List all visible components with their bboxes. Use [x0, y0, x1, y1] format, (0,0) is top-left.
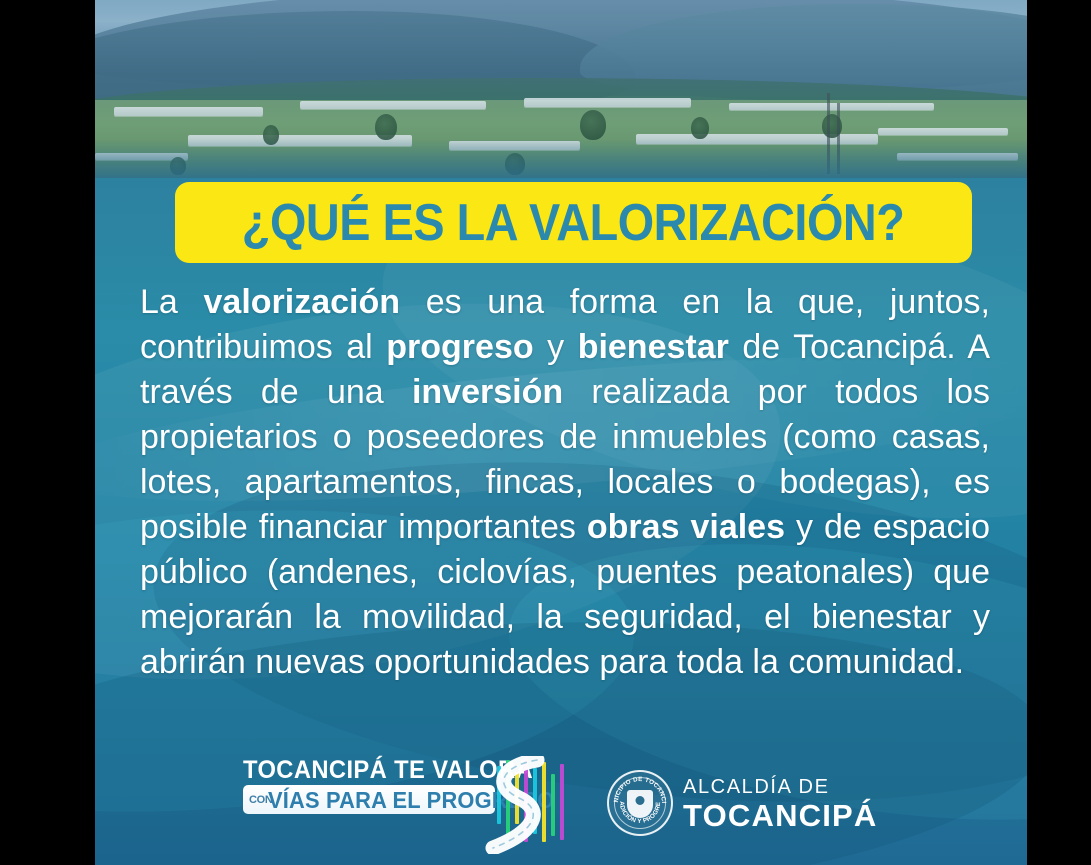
campaign-logo: TOCANCIPÁ TE VALORA CON VÍAS PARA EL PRO…	[243, 752, 543, 852]
color-bar	[560, 764, 564, 840]
government-logo-line1: ALCALDÍA DE	[683, 776, 830, 799]
municipal-crest-icon: MUNICIPIO DE TOCANCIPÁ TRADICIÓN Y PROGR…	[607, 770, 673, 836]
body-paragraph: La valorización es una forma en la que, …	[140, 280, 990, 685]
pillarbox-right	[1027, 0, 1091, 865]
aerial-landscape-photo	[95, 0, 1027, 178]
body-segment-bold: progreso	[386, 328, 533, 366]
pillarbox-left	[0, 0, 95, 865]
body-segment: y	[534, 328, 578, 366]
government-logo: MUNICIPIO DE TOCANCIPÁ TRADICIÓN Y PROGR…	[607, 770, 907, 842]
winding-road-graphic	[479, 756, 553, 854]
body-segment-bold: inversión	[412, 373, 563, 411]
government-logo-line2: TOCANCIPÁ	[683, 798, 878, 834]
poster-content: ¿QUÉ ES LA VALORIZACIÓN? La valorización…	[95, 0, 1027, 865]
photo-gradient-overlay	[95, 0, 1027, 178]
page-title: ¿QUÉ ES LA VALORIZACIÓN?	[242, 197, 905, 249]
body-segment-bold: obras viales	[587, 508, 785, 546]
crest-ring-text: MUNICIPIO DE TOCANCIPÁ TRADICIÓN Y PROGR…	[609, 772, 671, 834]
crest-top-text: MUNICIPIO DE TOCANCIPÁ	[609, 772, 667, 804]
poster-canvas: ¿QUÉ ES LA VALORIZACIÓN? La valorización…	[0, 0, 1091, 865]
footer-logos: TOCANCIPÁ TE VALORA CON VÍAS PARA EL PRO…	[95, 750, 1027, 865]
title-banner: ¿QUÉ ES LA VALORIZACIÓN?	[175, 182, 972, 263]
svg-text:MUNICIPIO DE TOCANCIPÁ: MUNICIPIO DE TOCANCIPÁ	[609, 772, 667, 804]
body-segment-bold: valorización	[204, 283, 401, 321]
body-segment: La	[140, 283, 204, 321]
body-segment-bold: bienestar	[578, 328, 729, 366]
